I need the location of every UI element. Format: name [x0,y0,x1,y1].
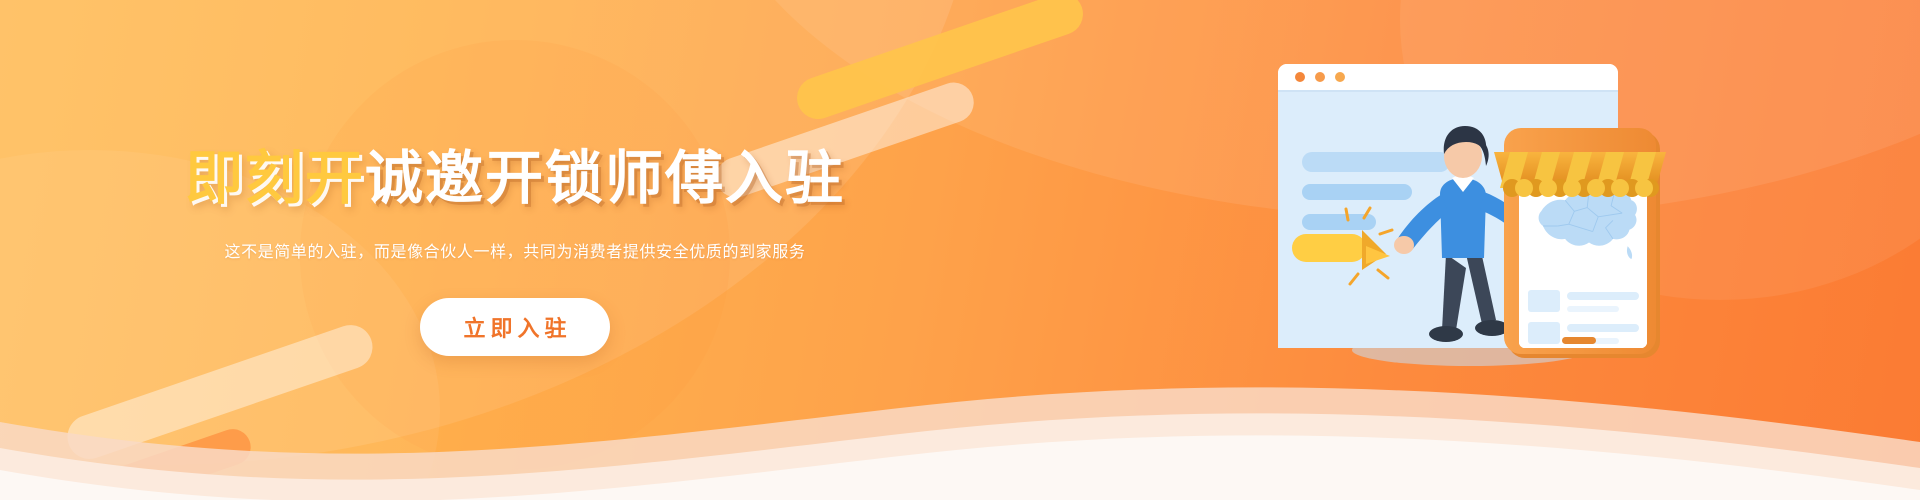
storefront-phone [1494,128,1666,358]
headline-rest: 诚邀开锁师傅入驻 [365,146,845,211]
banner-illustration [1270,58,1790,368]
banner-subtitle: 这不是简单的入驻，而是像合伙人一样，共同为消费者提供安全优质的到家服务 [224,238,805,262]
banner-content: 即刻开诚邀开锁师傅入驻 这不是简单的入驻，而是像合伙人一样，共同为消费者提供安全… [0,0,1030,500]
phone-home-indicator [1562,337,1596,344]
browser-dot-yellow [1335,72,1345,82]
browser-dot-orange [1315,72,1325,82]
headline-accent: 即刻开 [185,146,365,211]
promo-banner: 即刻开诚邀开锁师傅入驻 这不是简单的入驻，而是像合伙人一样，共同为消费者提供安全… [0,0,1920,500]
join-now-button[interactable]: 立即入驻 [420,298,610,356]
page-title: 即刻开诚邀开锁师傅入驻 [185,150,845,208]
shop-awning [1494,152,1666,197]
browser-dot-red [1295,72,1305,82]
